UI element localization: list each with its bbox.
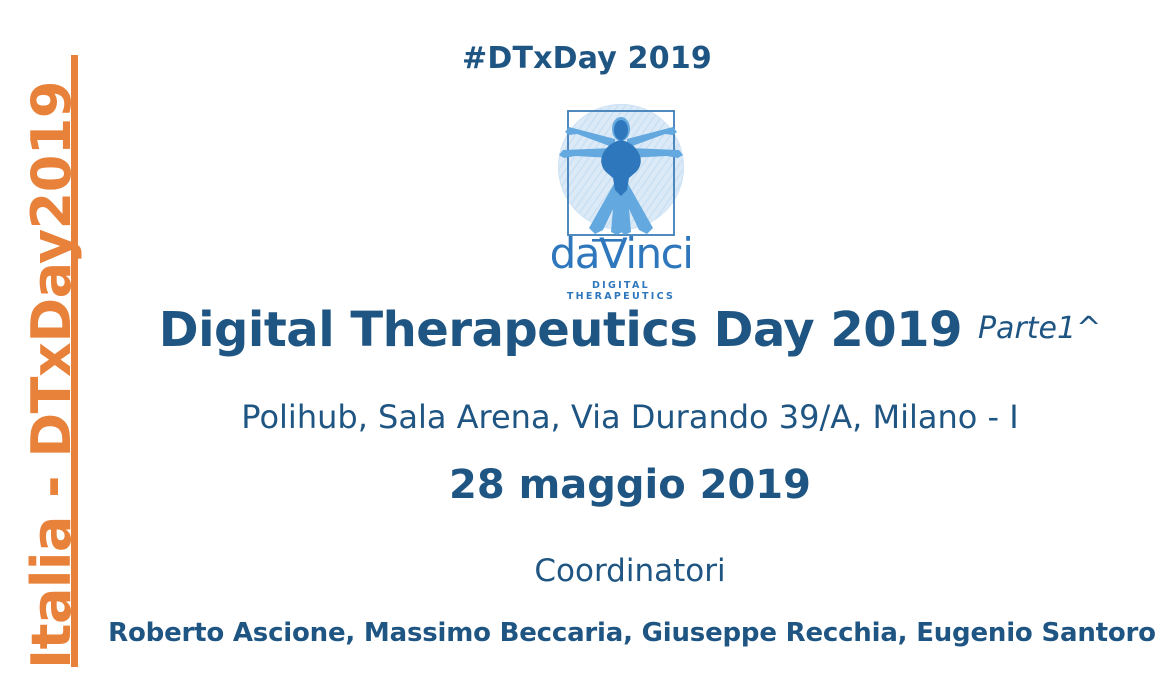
- title-row: Digital Therapeutics Day 2019Parte1^: [100, 302, 1160, 358]
- event-hashtag: #DTxDay 2019: [0, 41, 1174, 76]
- coordinators-label: Coordinatori: [100, 553, 1160, 589]
- davinci-wordmark: daVinci: [545, 232, 697, 278]
- side-rail: Italia - DTxDay2019: [0, 0, 100, 690]
- event-date: 28 maggio 2019: [100, 462, 1160, 508]
- coordinators-names: Roberto Ascione, Massimo Beccaria, Giuse…: [100, 618, 1164, 648]
- davinci-wordmark-block: daVinci DIGITAL THERAPEUTICS: [545, 232, 697, 302]
- davinci-text: daVinci: [550, 232, 693, 278]
- davinci-logo: daVinci DIGITAL THERAPEUTICS: [545, 104, 697, 294]
- venue-line: Polihub, Sala Arena, Via Durando 39/A, M…: [100, 398, 1160, 436]
- title-part-label: Parte1^: [978, 311, 1101, 346]
- page-title: Digital Therapeutics Day 2019: [159, 302, 962, 358]
- vertical-divider-line: [71, 55, 78, 667]
- slide-canvas: Italia - DTxDay2019 #DTxDay 2019: [0, 0, 1174, 690]
- vitruvian-man-icon: [545, 104, 697, 236]
- davinci-tagline: DIGITAL THERAPEUTICS: [545, 280, 697, 302]
